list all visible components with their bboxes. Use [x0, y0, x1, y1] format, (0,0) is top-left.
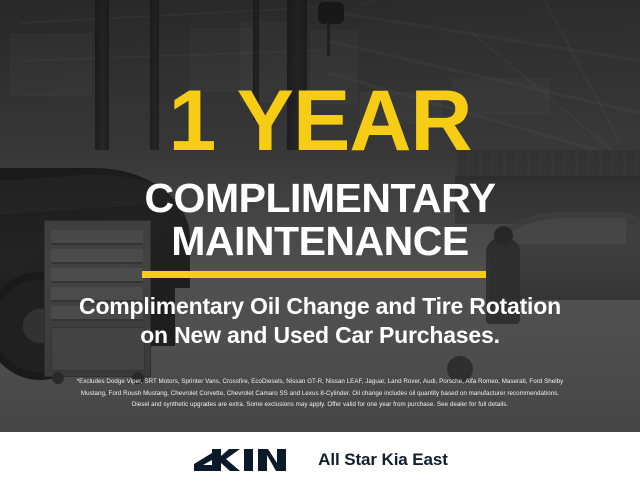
dealer-footer: All Star Kia East — [0, 432, 640, 488]
yellow-divider-rule — [142, 271, 486, 278]
disclaimer-line-1: *Excludes Dodge Viper, SRT Motors, Sprin… — [14, 376, 626, 388]
offer-line-2: on New and Used Car Purchases. — [0, 321, 640, 350]
headline-maintenance: COMPLIMENTARY MAINTENANCE — [0, 178, 640, 261]
offer-description: Complimentary Oil Change and Tire Rotati… — [0, 292, 640, 350]
offer-line-1: Complimentary Oil Change and Tire Rotati… — [79, 293, 561, 319]
headline-maintenance-line: MAINTENANCE — [0, 221, 640, 261]
promo-content: 1 YEAR COMPLIMENTARY MAINTENANCE Complim… — [0, 0, 640, 488]
headline-year: 1 YEAR — [0, 78, 640, 164]
disclaimer-line-2: Mustang, Ford Roush Mustang, Chevrolet C… — [14, 388, 626, 400]
disclaimer-line-3: Diesel and synthetic upgrades are extra.… — [14, 399, 626, 411]
kia-logo — [192, 447, 296, 473]
headline-complimentary-line: COMPLIMENTARY — [144, 175, 495, 221]
dealer-name: All Star Kia East — [318, 450, 448, 470]
promo-banner: 1 YEAR COMPLIMENTARY MAINTENANCE Complim… — [0, 0, 640, 488]
legal-disclaimer: *Excludes Dodge Viper, SRT Motors, Sprin… — [14, 376, 626, 411]
